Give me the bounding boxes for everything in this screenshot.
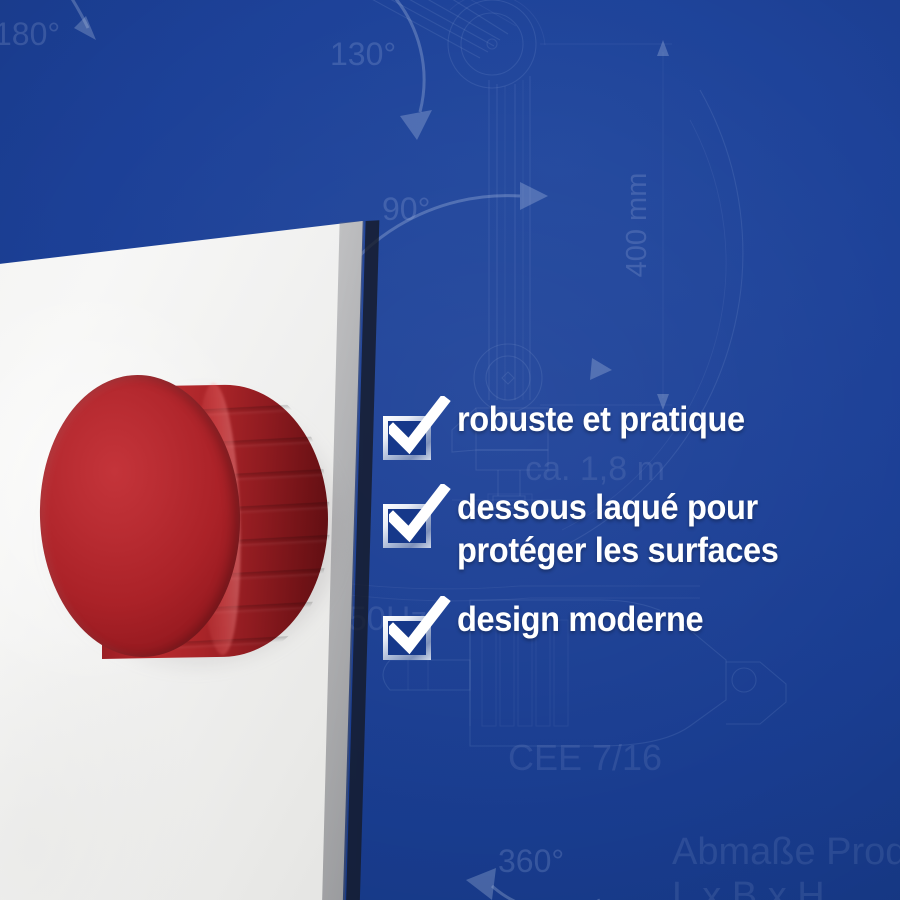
feature-label-laque: dessous laqué pour protéger les surfaces: [457, 486, 778, 572]
product-feature-banner: 400 mm 180° 130° 90°: [0, 0, 900, 900]
checkmark-icon: [389, 596, 451, 660]
feature-label-robuste: robuste et pratique: [457, 398, 745, 441]
checkmark-icon: [389, 484, 451, 548]
feature-list: robuste et pratique dessous laqué pour p…: [383, 398, 893, 660]
round-red-magnet: [40, 375, 330, 665]
checkmark-icon: [389, 396, 451, 460]
checkbox-checked-icon: [383, 408, 435, 460]
feature-label-design: design moderne: [457, 598, 703, 641]
feature-item-laque: dessous laqué pour protéger les surfaces: [383, 486, 893, 572]
feature-item-design: design moderne: [383, 598, 893, 660]
feature-item-robuste: robuste et pratique: [383, 398, 893, 460]
checkbox-checked-icon: [383, 608, 435, 660]
checkbox-checked-icon: [383, 496, 435, 548]
